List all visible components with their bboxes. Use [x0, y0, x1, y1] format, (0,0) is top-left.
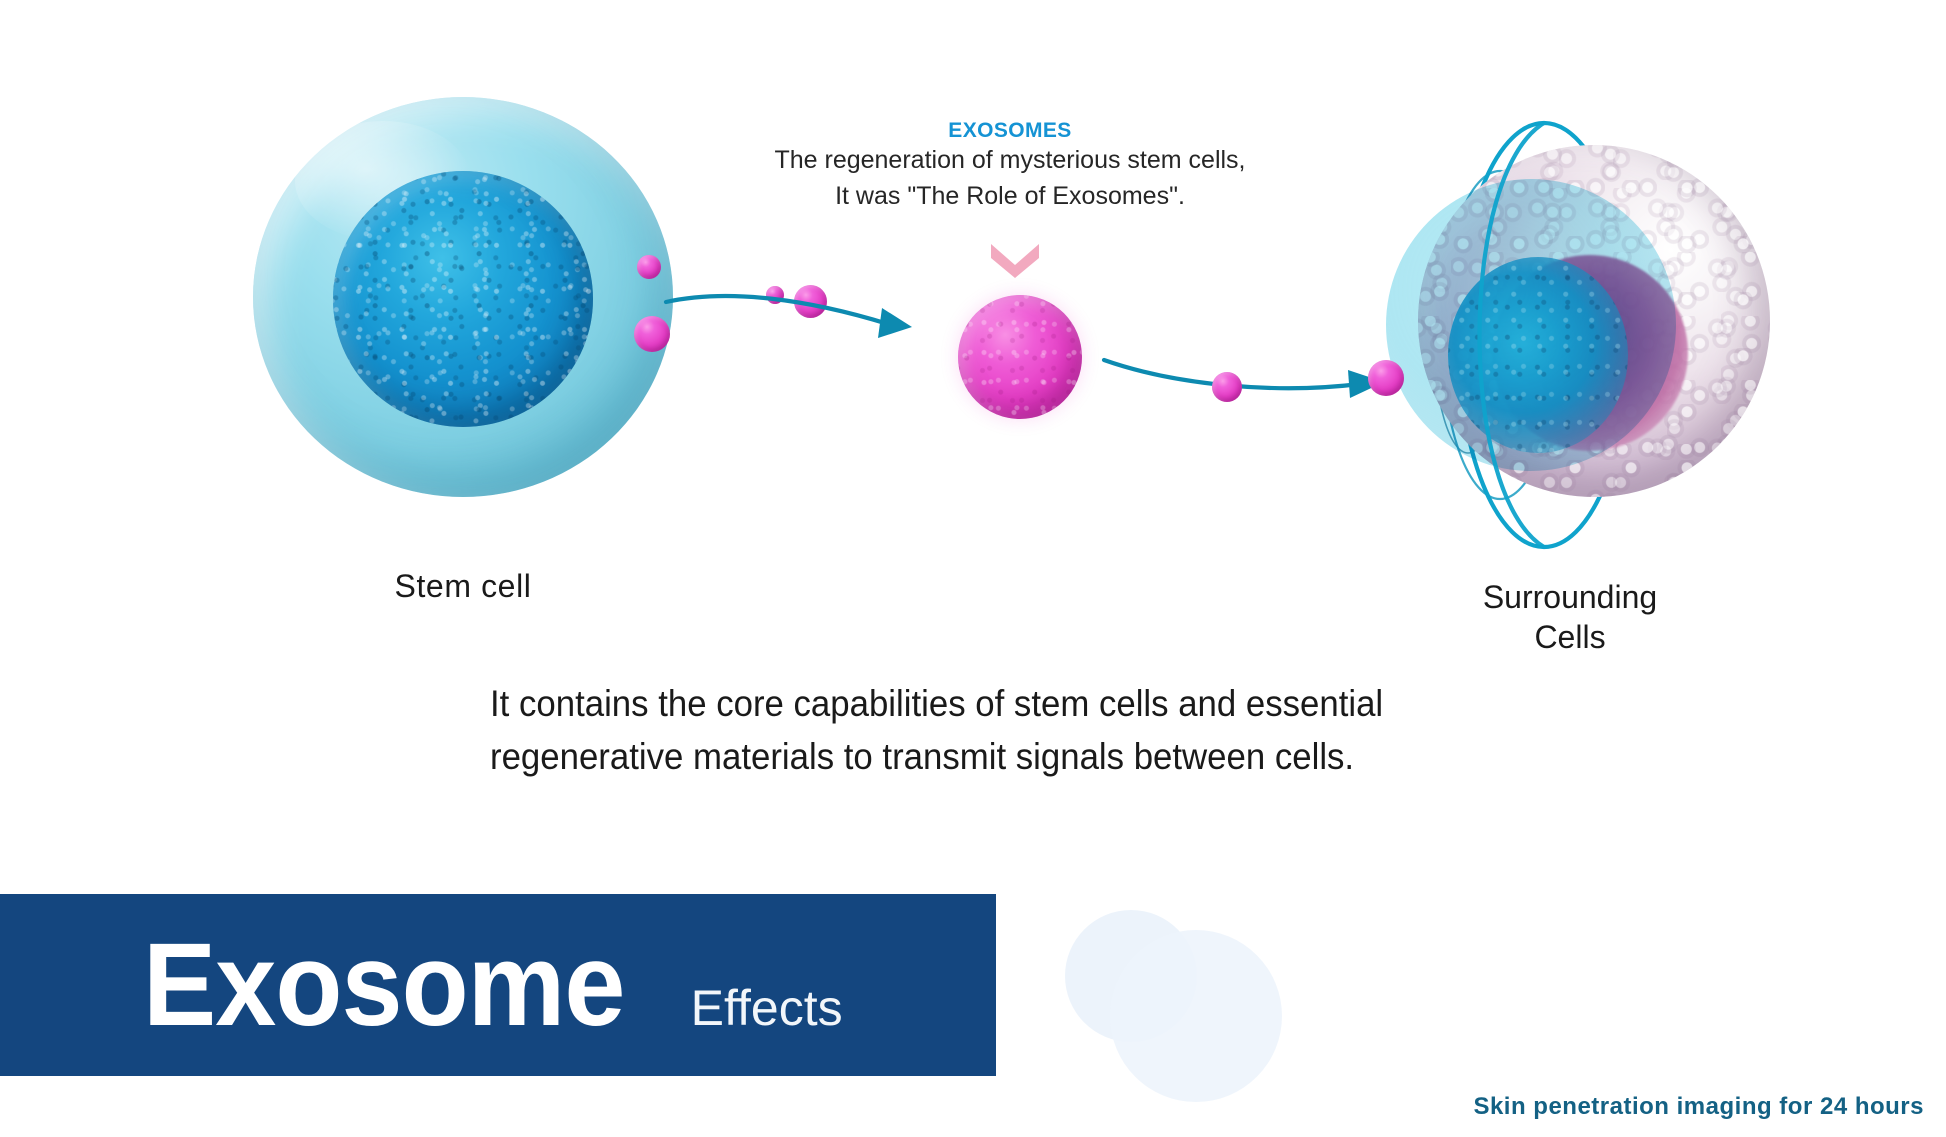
caption-line-2: It was "The Role of Exosomes". [760, 179, 1260, 215]
exosome-dot [1368, 360, 1404, 396]
surrounding-cell-membrane [1386, 179, 1676, 471]
stem-cell-illustration [253, 97, 673, 497]
slide-canvas: EXOSOMES The regeneration of mysterious … [0, 0, 1946, 1137]
bottom-banner: Exosome Effects [0, 894, 996, 1076]
exosome-dot [637, 255, 661, 279]
banner-text-group: Exosome Effects [0, 931, 843, 1040]
banner-title: Exosome [143, 931, 624, 1040]
body-line-2: regenerative materials to transmit signa… [490, 731, 1486, 784]
body-paragraph: It contains the core capabilities of ste… [490, 678, 1486, 783]
surrounding-cells-illustration [1370, 145, 1770, 535]
stem-cell-nucleus [333, 171, 593, 427]
exosomes-caption-block: EXOSOMES The regeneration of mysterious … [760, 118, 1260, 214]
stem-cell-label: Stem cell [253, 568, 673, 605]
banner-subtitle: Effects [691, 983, 843, 1033]
footer-caption: Skin penetration imaging for 24 hours [1473, 1093, 1924, 1121]
surrounding-cells-label-line-1: Surrounding [1370, 578, 1770, 618]
transfer-arrow-left [660, 280, 950, 350]
surrounding-cells-label-line-2: Cells [1370, 618, 1770, 658]
surrounding-cells-label: Surrounding Cells [1370, 578, 1770, 657]
decorative-circle [1110, 930, 1282, 1102]
chevron-down-icon [985, 238, 1045, 278]
body-line-1: It contains the core capabilities of ste… [490, 678, 1486, 731]
center-exosome [958, 295, 1082, 419]
caption-line-1: The regeneration of mysterious stem cell… [760, 143, 1260, 179]
exosome-dot [1212, 372, 1242, 402]
caption-heading: EXOSOMES [760, 118, 1260, 143]
